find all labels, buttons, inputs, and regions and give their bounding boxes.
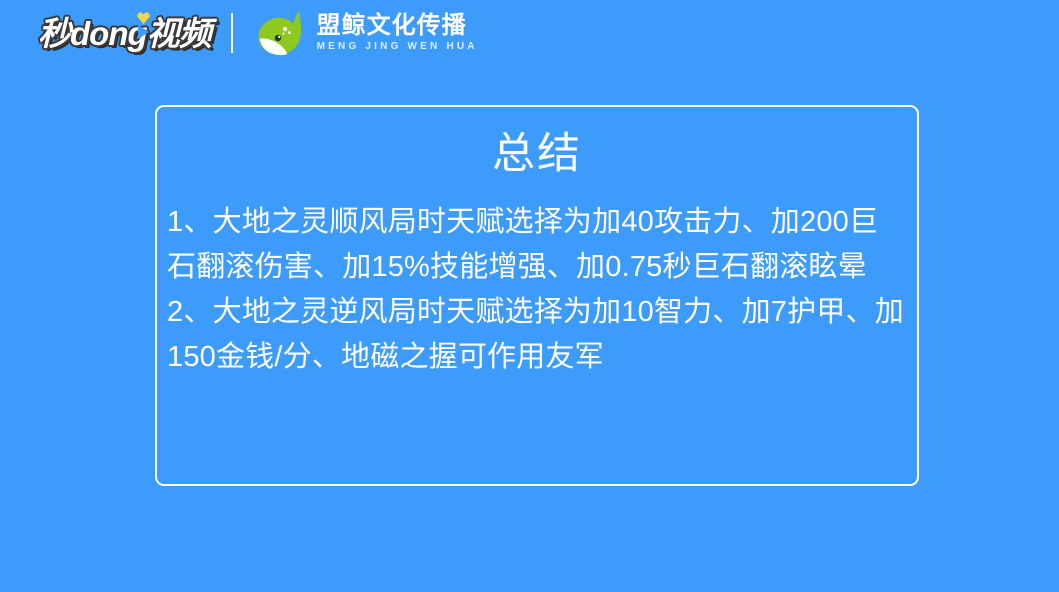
- slide-canvas: 秒dong视频 盟鲸文化传播 MENG JING WEN HUA: [0, 0, 1059, 592]
- brand-bar: 秒dong视频 盟鲸文化传播 MENG JING WEN HUA: [0, 0, 1059, 66]
- mengjing-text-block: 盟鲸文化传播 MENG JING WEN HUA: [317, 14, 478, 52]
- miaodong-logo-text: 秒dong视频: [38, 17, 211, 50]
- card-title: 总结: [157, 131, 917, 178]
- card-body: 1、大地之灵顺风局时天赋选择为加40攻击力、加200巨石翻滚伤害、加15%技能增…: [167, 200, 905, 380]
- play-icon: [138, 25, 149, 39]
- brand-divider: [231, 13, 233, 53]
- summary-line: 2、大地之灵逆风局时天赋选择为加10智力、加7护甲、加150金钱/分、地磁之握可…: [167, 290, 905, 380]
- summary-card: 总结 1、大地之灵顺风局时天赋选择为加40攻击力、加200巨石翻滚伤害、加15%…: [155, 105, 919, 486]
- whale-icon: [255, 8, 307, 58]
- miaodong-video-logo: 秒dong视频: [38, 10, 211, 56]
- mengjing-logo-en: MENG JING WEN HUA: [317, 42, 478, 52]
- summary-line: 1、大地之灵顺风局时天赋选择为加40攻击力、加200巨石翻滚伤害、加15%技能增…: [167, 200, 905, 290]
- mengjing-wenhua-logo: 盟鲸文化传播 MENG JING WEN HUA: [255, 8, 478, 58]
- mengjing-logo-cn: 盟鲸文化传播: [317, 14, 478, 38]
